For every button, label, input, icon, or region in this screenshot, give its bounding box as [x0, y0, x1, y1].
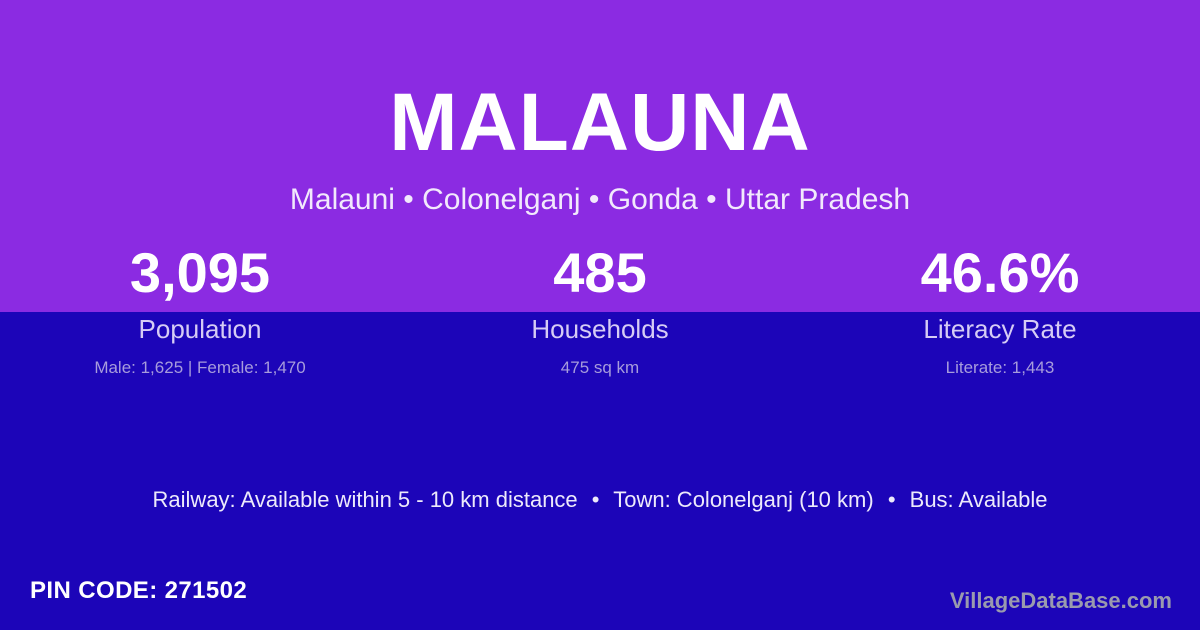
amenity-town: Town: Colonelganj (10 km)	[613, 487, 873, 512]
stat-sub-population: Male: 1,625 | Female: 1,470	[0, 359, 400, 376]
stat-value-literacy-rate: 46.6%	[800, 245, 1200, 305]
amenities-line: Railway: Available within 5 - 10 km dist…	[0, 487, 1200, 513]
stat-sub-households: 475 sq km	[400, 359, 800, 376]
stat-sub-literacy-rate: Literate: 1,443	[800, 359, 1200, 376]
stat-literacy-rate: 46.6% Literacy Rate Literate: 1,443	[800, 245, 1200, 376]
page-title: MALAUNA	[0, 82, 1200, 164]
breadcrumb: Malauni • Colonelganj • Gonda • Uttar Pr…	[0, 182, 1200, 218]
amenity-bus: Bus: Available	[910, 487, 1048, 512]
stat-label-literacy-rate: Literacy Rate	[800, 316, 1200, 342]
stat-label-households: Households	[400, 316, 800, 342]
stats-row: 3,095 Population Male: 1,625 | Female: 1…	[0, 245, 1200, 376]
amenity-separator-2: •	[880, 487, 904, 513]
amenity-separator-1: •	[584, 487, 608, 513]
site-watermark: VillageDataBase.com	[950, 588, 1172, 614]
village-info-card: MALAUNA Malauni • Colonelganj • Gonda • …	[0, 0, 1200, 630]
stat-population: 3,095 Population Male: 1,625 | Female: 1…	[0, 245, 400, 376]
pin-code: PIN CODE: 271502	[30, 577, 247, 606]
stat-label-population: Population	[0, 316, 400, 342]
stat-households: 485 Households 475 sq km	[400, 245, 800, 376]
amenity-railway: Railway: Available within 5 - 10 km dist…	[153, 487, 578, 512]
stat-value-population: 3,095	[0, 245, 400, 305]
stat-value-households: 485	[400, 245, 800, 305]
